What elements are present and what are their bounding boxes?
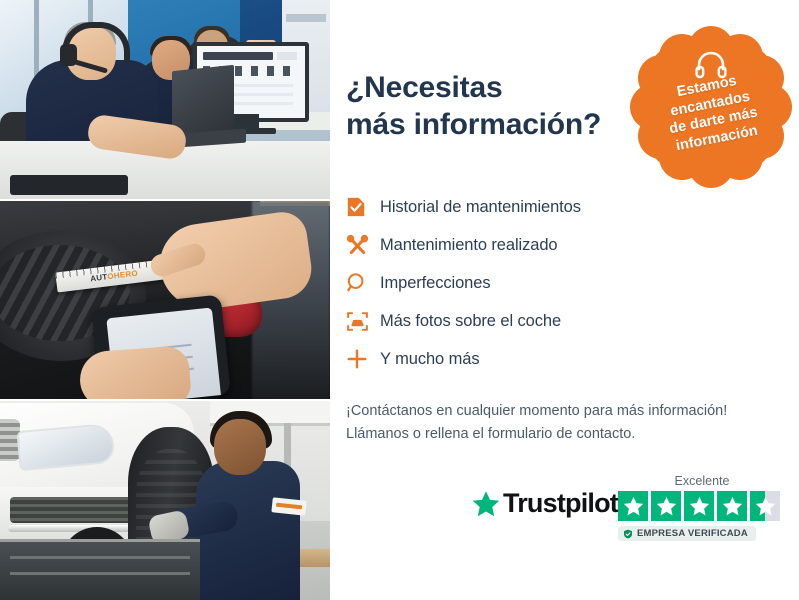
inspector-hand-holding-tablet bbox=[78, 345, 192, 399]
feature-item-maintenance-done: Mantenimiento realizado bbox=[346, 226, 676, 264]
trustpilot-rating: Excelente bbox=[618, 474, 786, 544]
technician-tyre-check-photo bbox=[0, 399, 330, 600]
content-panel: ¿Necesitas más información? bbox=[330, 0, 799, 600]
trustpilot-widget[interactable]: Trustpilot Excelente bbox=[472, 474, 792, 554]
page-title: ¿Necesitas más información? bbox=[346, 70, 636, 143]
headline-line-1: ¿Necesitas bbox=[346, 71, 502, 104]
bumper-air-intake bbox=[10, 497, 136, 523]
plus-icon bbox=[346, 344, 380, 374]
contact-badge: Estamos encantados de darte más informac… bbox=[631, 26, 791, 188]
feature-list: Historial de mantenimientos Mantenimient… bbox=[346, 188, 676, 378]
laptop-screen bbox=[172, 65, 234, 138]
chrome-trim bbox=[8, 525, 140, 532]
trustpilot-wordmark: Trustpilot bbox=[503, 488, 618, 519]
feature-label: Y mucho más bbox=[380, 350, 479, 369]
verified-company-badge: EMPRESA VERIFICADA bbox=[618, 526, 756, 541]
contact-line-1: ¡Contáctanos en cualquier momento para m… bbox=[346, 400, 776, 423]
photo-strip: AUTOHERO bbox=[0, 0, 330, 600]
trustpilot-star-icon bbox=[472, 490, 500, 517]
feature-item-imperfections: Imperfecciones bbox=[346, 264, 676, 302]
car-photo-frame-icon bbox=[346, 306, 380, 336]
information-banner: AUTOHERO bbox=[0, 0, 799, 600]
feature-label: Historial de mantenimientos bbox=[380, 198, 581, 217]
feature-label: Imperfecciones bbox=[380, 274, 490, 293]
headline-line-2: más información? bbox=[346, 107, 636, 144]
verified-shield-icon bbox=[623, 529, 633, 539]
star-half bbox=[750, 491, 780, 521]
call-centre-agents-photo bbox=[0, 0, 330, 199]
verified-label: EMPRESA VERIFICADA bbox=[637, 528, 748, 539]
star-filled bbox=[684, 491, 714, 521]
magnifier-icon bbox=[346, 268, 380, 298]
star-rating bbox=[618, 491, 786, 521]
feature-item-much-more: Y mucho más bbox=[346, 340, 676, 378]
feature-item-more-photos: Más fotos sobre el coche bbox=[346, 302, 676, 340]
star-filled bbox=[651, 491, 681, 521]
contact-paragraph: ¡Contáctanos en cualquier momento para m… bbox=[346, 400, 776, 447]
technician-head bbox=[214, 419, 266, 475]
feature-label: Más fotos sobre el coche bbox=[380, 312, 561, 331]
star-filled bbox=[717, 491, 747, 521]
star-filled bbox=[618, 491, 648, 521]
trustpilot-logo: Trustpilot bbox=[472, 488, 618, 519]
tool-cabinet bbox=[0, 539, 200, 600]
car-inspection-ruler-photo: AUTOHERO bbox=[0, 199, 330, 400]
contact-line-2: Llámanos o rellena el formulario de cont… bbox=[346, 423, 776, 446]
feature-item-maintenance-history: Historial de mantenimientos bbox=[346, 188, 676, 226]
feature-label: Mantenimiento realizado bbox=[380, 236, 557, 255]
crossed-tools-icon bbox=[346, 230, 380, 260]
desk-tablet bbox=[10, 175, 128, 195]
document-check-icon bbox=[346, 192, 380, 222]
rating-label: Excelente bbox=[618, 474, 786, 488]
